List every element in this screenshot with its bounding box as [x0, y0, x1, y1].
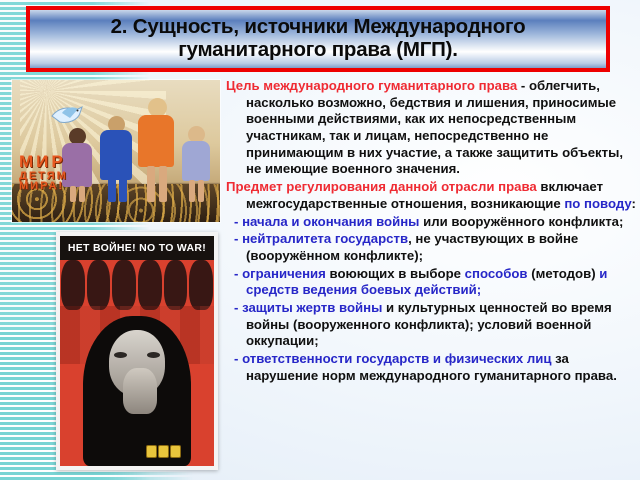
- bullet-blue-1: начала и окончания войны: [242, 214, 419, 229]
- war-poster-banner-text: НЕТ ВОЙНЕ! NO TO WAR!: [60, 236, 214, 260]
- slide-canvas: 2. Сущность, источники Международного гу…: [0, 0, 640, 480]
- dove-icon: [50, 102, 84, 126]
- bullet-blue-2: способов: [465, 266, 528, 281]
- list-item: - нейтралитета государств, не участвующи…: [226, 231, 636, 264]
- child-figure-3: [136, 98, 176, 202]
- bullet-dash: -: [234, 214, 242, 229]
- caption-line-3: МИРА!: [19, 181, 68, 192]
- slide-body-text: Цель международного гуманитарного права …: [226, 78, 636, 385]
- medal-2: [158, 445, 169, 458]
- list-item: - ответственности государств и физически…: [226, 351, 636, 384]
- paragraph-subject-colon: :: [632, 196, 636, 211]
- list-item: - начала и окончания войны или вооружённ…: [226, 214, 636, 231]
- bullet-dash: -: [234, 300, 242, 315]
- paragraph-subject: Предмет регулирования данной отрасли пра…: [226, 179, 636, 212]
- bullet-dash: -: [234, 266, 242, 281]
- grieving-woman-figure: [83, 316, 191, 466]
- paragraph-subject-lead: Предмет регулирования данной отрасли пра…: [226, 179, 537, 194]
- peace-poster-image: МИР ДЕТЯМ МИРА!: [12, 80, 220, 222]
- medal-3: [146, 445, 157, 458]
- peace-poster-caption: МИР ДЕТЯМ МИРА!: [19, 154, 68, 192]
- bullet-blue-1: ответственности государств и физических …: [242, 351, 551, 366]
- eye-right: [147, 352, 160, 358]
- medal-1: [170, 445, 181, 458]
- paragraph-purpose: Цель международного гуманитарного права …: [226, 78, 636, 178]
- caption-line-1: МИР: [19, 152, 66, 171]
- bullet-black-1: воюющих в выборе: [326, 266, 465, 281]
- paragraph-subject-highlight: по поводу: [564, 196, 631, 211]
- war-poster-art: НЕТ ВОЙНЕ! NO TO WAR!: [60, 236, 214, 466]
- bullet-dash: -: [234, 351, 242, 366]
- soldier-faces-row-1: [60, 260, 214, 310]
- paragraph-purpose-lead: Цель международного гуманитарного права: [226, 78, 517, 93]
- child-figure-2: [98, 110, 134, 202]
- slide-title-box: 2. Сущность, источники Международного гу…: [26, 6, 610, 72]
- peace-poster-art: МИР ДЕТЯМ МИРА!: [12, 80, 220, 222]
- bullet-blue-1: защиты жертв войны: [242, 300, 382, 315]
- page-title: 2. Сущность, источники Международного гу…: [30, 16, 606, 62]
- eye-left: [114, 352, 127, 358]
- war-poster-image: НЕТ ВОЙНЕ! NO TO WAR!: [56, 232, 218, 470]
- war-poster-banner: НЕТ ВОЙНЕ! NO TO WAR!: [60, 236, 214, 260]
- list-item: - ограничения воюющих в выборе способов …: [226, 266, 636, 299]
- bullet-blue-1: ограничения: [242, 266, 326, 281]
- child-figure-4: [180, 124, 212, 202]
- bullet-black-2: (методов): [528, 266, 600, 281]
- woman-hand: [123, 368, 157, 414]
- bullet-blue-1: нейтралитета государств: [242, 231, 408, 246]
- bullet-black-1: или вооружённого конфликта;: [419, 214, 623, 229]
- bullet-dash: -: [234, 231, 242, 246]
- list-item: - защиты жертв войны и культурных ценнос…: [226, 300, 636, 350]
